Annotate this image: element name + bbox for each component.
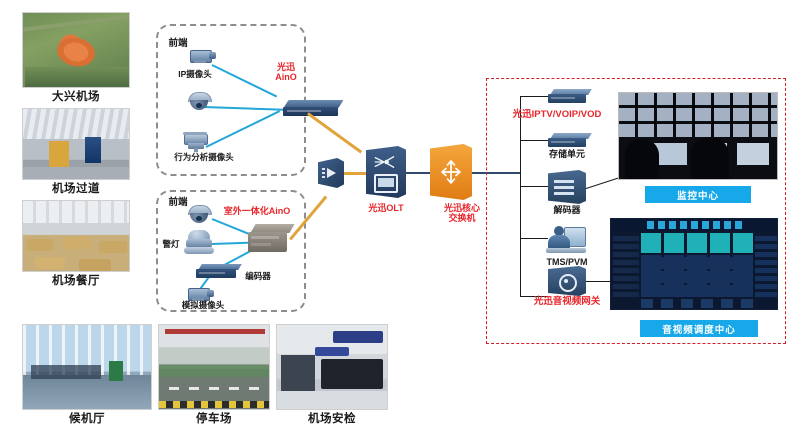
iptv-server-icon [548, 89, 590, 104]
storage-unit-icon [548, 133, 590, 148]
tms-pvm-workstation-icon [546, 224, 586, 256]
riser-bus [520, 96, 521, 296]
aino-label-line2: AinO [258, 72, 314, 82]
branch-storage [520, 140, 548, 141]
fiber-upper-aino-to-splitter [307, 112, 362, 153]
photo-airport-restaurant [22, 200, 130, 272]
olt-icon [366, 146, 406, 198]
optical-splitter-icon [318, 158, 344, 188]
photo-caption: 机场餐厅 [22, 276, 130, 288]
device-label: 行为分析摄像头 [158, 153, 250, 162]
core-switch-icon [430, 144, 472, 200]
dispatch-dashboard-panel [610, 218, 778, 310]
behavior-analysis-camera-icon [184, 132, 214, 152]
device-label: 警灯 [158, 240, 184, 249]
olt-label: 光迅OLT [356, 203, 416, 213]
photo-caption: 机场过道 [22, 184, 130, 196]
outdoor-aino-icon [248, 224, 292, 254]
ip-camera-icon [188, 48, 216, 63]
core-switch-label-line1: 光迅核心 [432, 203, 492, 213]
encoder-icon [196, 264, 240, 279]
outdoor-aino-label: 室外一体化AinO [212, 206, 302, 216]
photo-airport-corridor [22, 108, 130, 180]
diagram-canvas: 大兴机场 机场过道 机场餐厅 候机厅 停车场 [0, 0, 800, 444]
photo-security-check [276, 324, 388, 410]
core-switch-label-line2: 交换机 [432, 213, 492, 223]
olt-radiate-icon [373, 155, 395, 169]
aino-upper-label: 光迅 AinO [258, 62, 314, 82]
device-label: 模拟摄像头 [168, 301, 238, 310]
photo-caption: 机场安检 [276, 414, 388, 426]
photo-parking-garage [158, 324, 270, 410]
photo-caption: 候机厅 [22, 414, 152, 426]
photo-caption: 停车场 [158, 414, 270, 426]
analog-camera-icon [186, 286, 214, 301]
control-room-photo [618, 92, 778, 180]
photo-airport-aerial [22, 12, 130, 88]
control-room-caption-bar: 监控中心 [645, 186, 751, 203]
av-gateway-icon [548, 266, 586, 296]
device-label: 编码器 [240, 272, 276, 281]
iptv-label: 光迅IPTV/VOIP/VOD [492, 110, 622, 121]
branch-tms [520, 238, 548, 239]
core-switch-label: 光迅核心 交换机 [432, 203, 492, 223]
storage-label: 存储单元 [534, 150, 600, 160]
photo-departure-lounge [22, 324, 152, 410]
branch-iptv [520, 96, 548, 97]
dome-camera-icon [186, 205, 212, 225]
av-gateway-label: 光迅音视频网关 [512, 297, 622, 308]
trunk-olt-to-core-switch [405, 172, 433, 174]
decoder-icon [548, 170, 586, 204]
warning-beacon-icon [184, 230, 214, 256]
aino-label-line1: 光迅 [258, 62, 314, 72]
dome-camera-icon [186, 92, 212, 112]
branch-decoder [520, 186, 548, 187]
decoder-label: 解码器 [534, 206, 600, 216]
switch-arrows-icon [439, 158, 463, 186]
dispatch-center-caption-bar: 音视频调度中心 [640, 320, 758, 337]
device-label: IP摄像头 [160, 70, 230, 79]
photo-caption: 大兴机场 [22, 92, 130, 104]
